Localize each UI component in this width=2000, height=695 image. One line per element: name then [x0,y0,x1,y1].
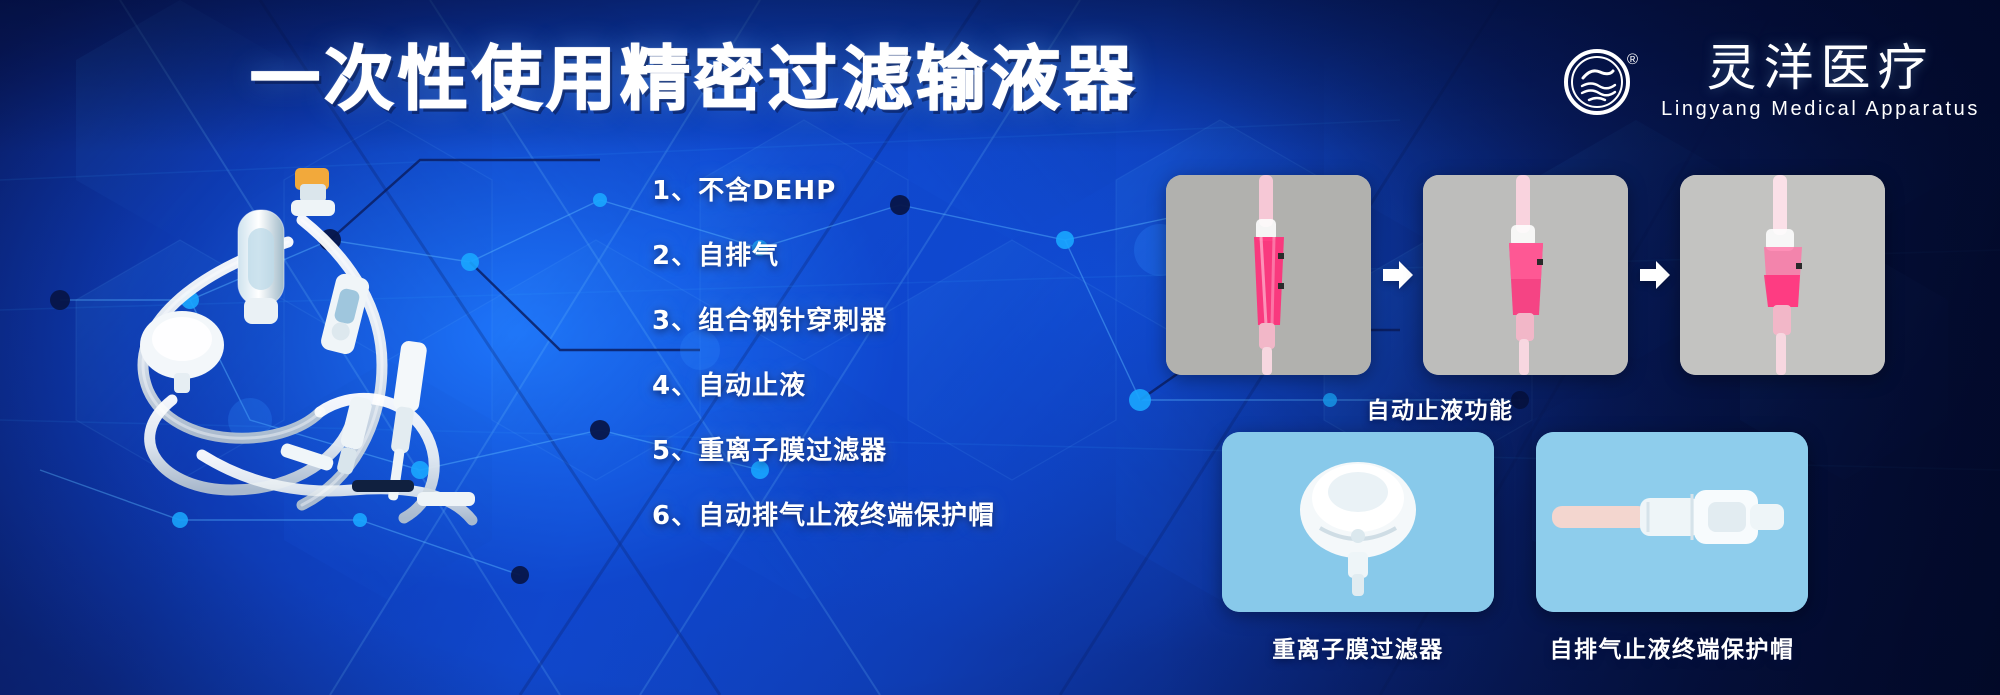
auto-stop-photo-2 [1423,175,1628,375]
auto-stop-sequence [1166,175,1885,375]
svg-text:®: ® [1627,51,1638,68]
right-arrow-icon-1 [1371,175,1423,375]
bottom-photo-row [1222,432,1808,612]
auto-stop-photo-3 [1680,175,1885,375]
feature-list: 1、不含DEHP 2、自排气 3、组合钢针穿刺器 4、自动止液 5、重离子膜过滤… [652,170,982,532]
right-arrow-icon-2 [1628,175,1680,375]
brand-logo: ® 灵洋医疗 Lingyang Medical Apparatus [1557,38,1980,124]
feature-item-5: 5、重离子膜过滤器 [652,430,982,467]
auto-stop-photo-1 [1166,175,1371,375]
auto-stop-caption: 自动止液功能 [1367,391,1514,425]
brand-name-en: Lingyang Medical Apparatus [1661,98,1980,121]
lingyang-seal-logo-icon: ® [1557,38,1643,124]
product-banner: 一次性使用精密过滤输液器 ® 灵洋医疗 Lingyang Medical App… [0,0,2000,695]
feature-item-6: 6、自动排气止液终端保护帽 [652,495,982,532]
filter-caption: 重离子膜过滤器 [1272,630,1444,664]
feature-item-4: 4、自动止液 [652,365,982,402]
feature-item-3: 3、组合钢针穿刺器 [652,300,982,337]
protective-cap-caption: 自排气止液终端保护帽 [1550,630,1795,664]
brand-name-cn: 灵洋医疗 [1707,41,1935,95]
banner-title: 一次性使用精密过滤输液器 [250,44,1138,114]
protective-cap-photo [1536,432,1808,612]
feature-item-2: 2、自排气 [652,235,982,272]
infusion-set-photo [52,150,652,550]
feature-item-1: 1、不含DEHP [652,170,982,207]
filter-photo [1222,432,1494,612]
